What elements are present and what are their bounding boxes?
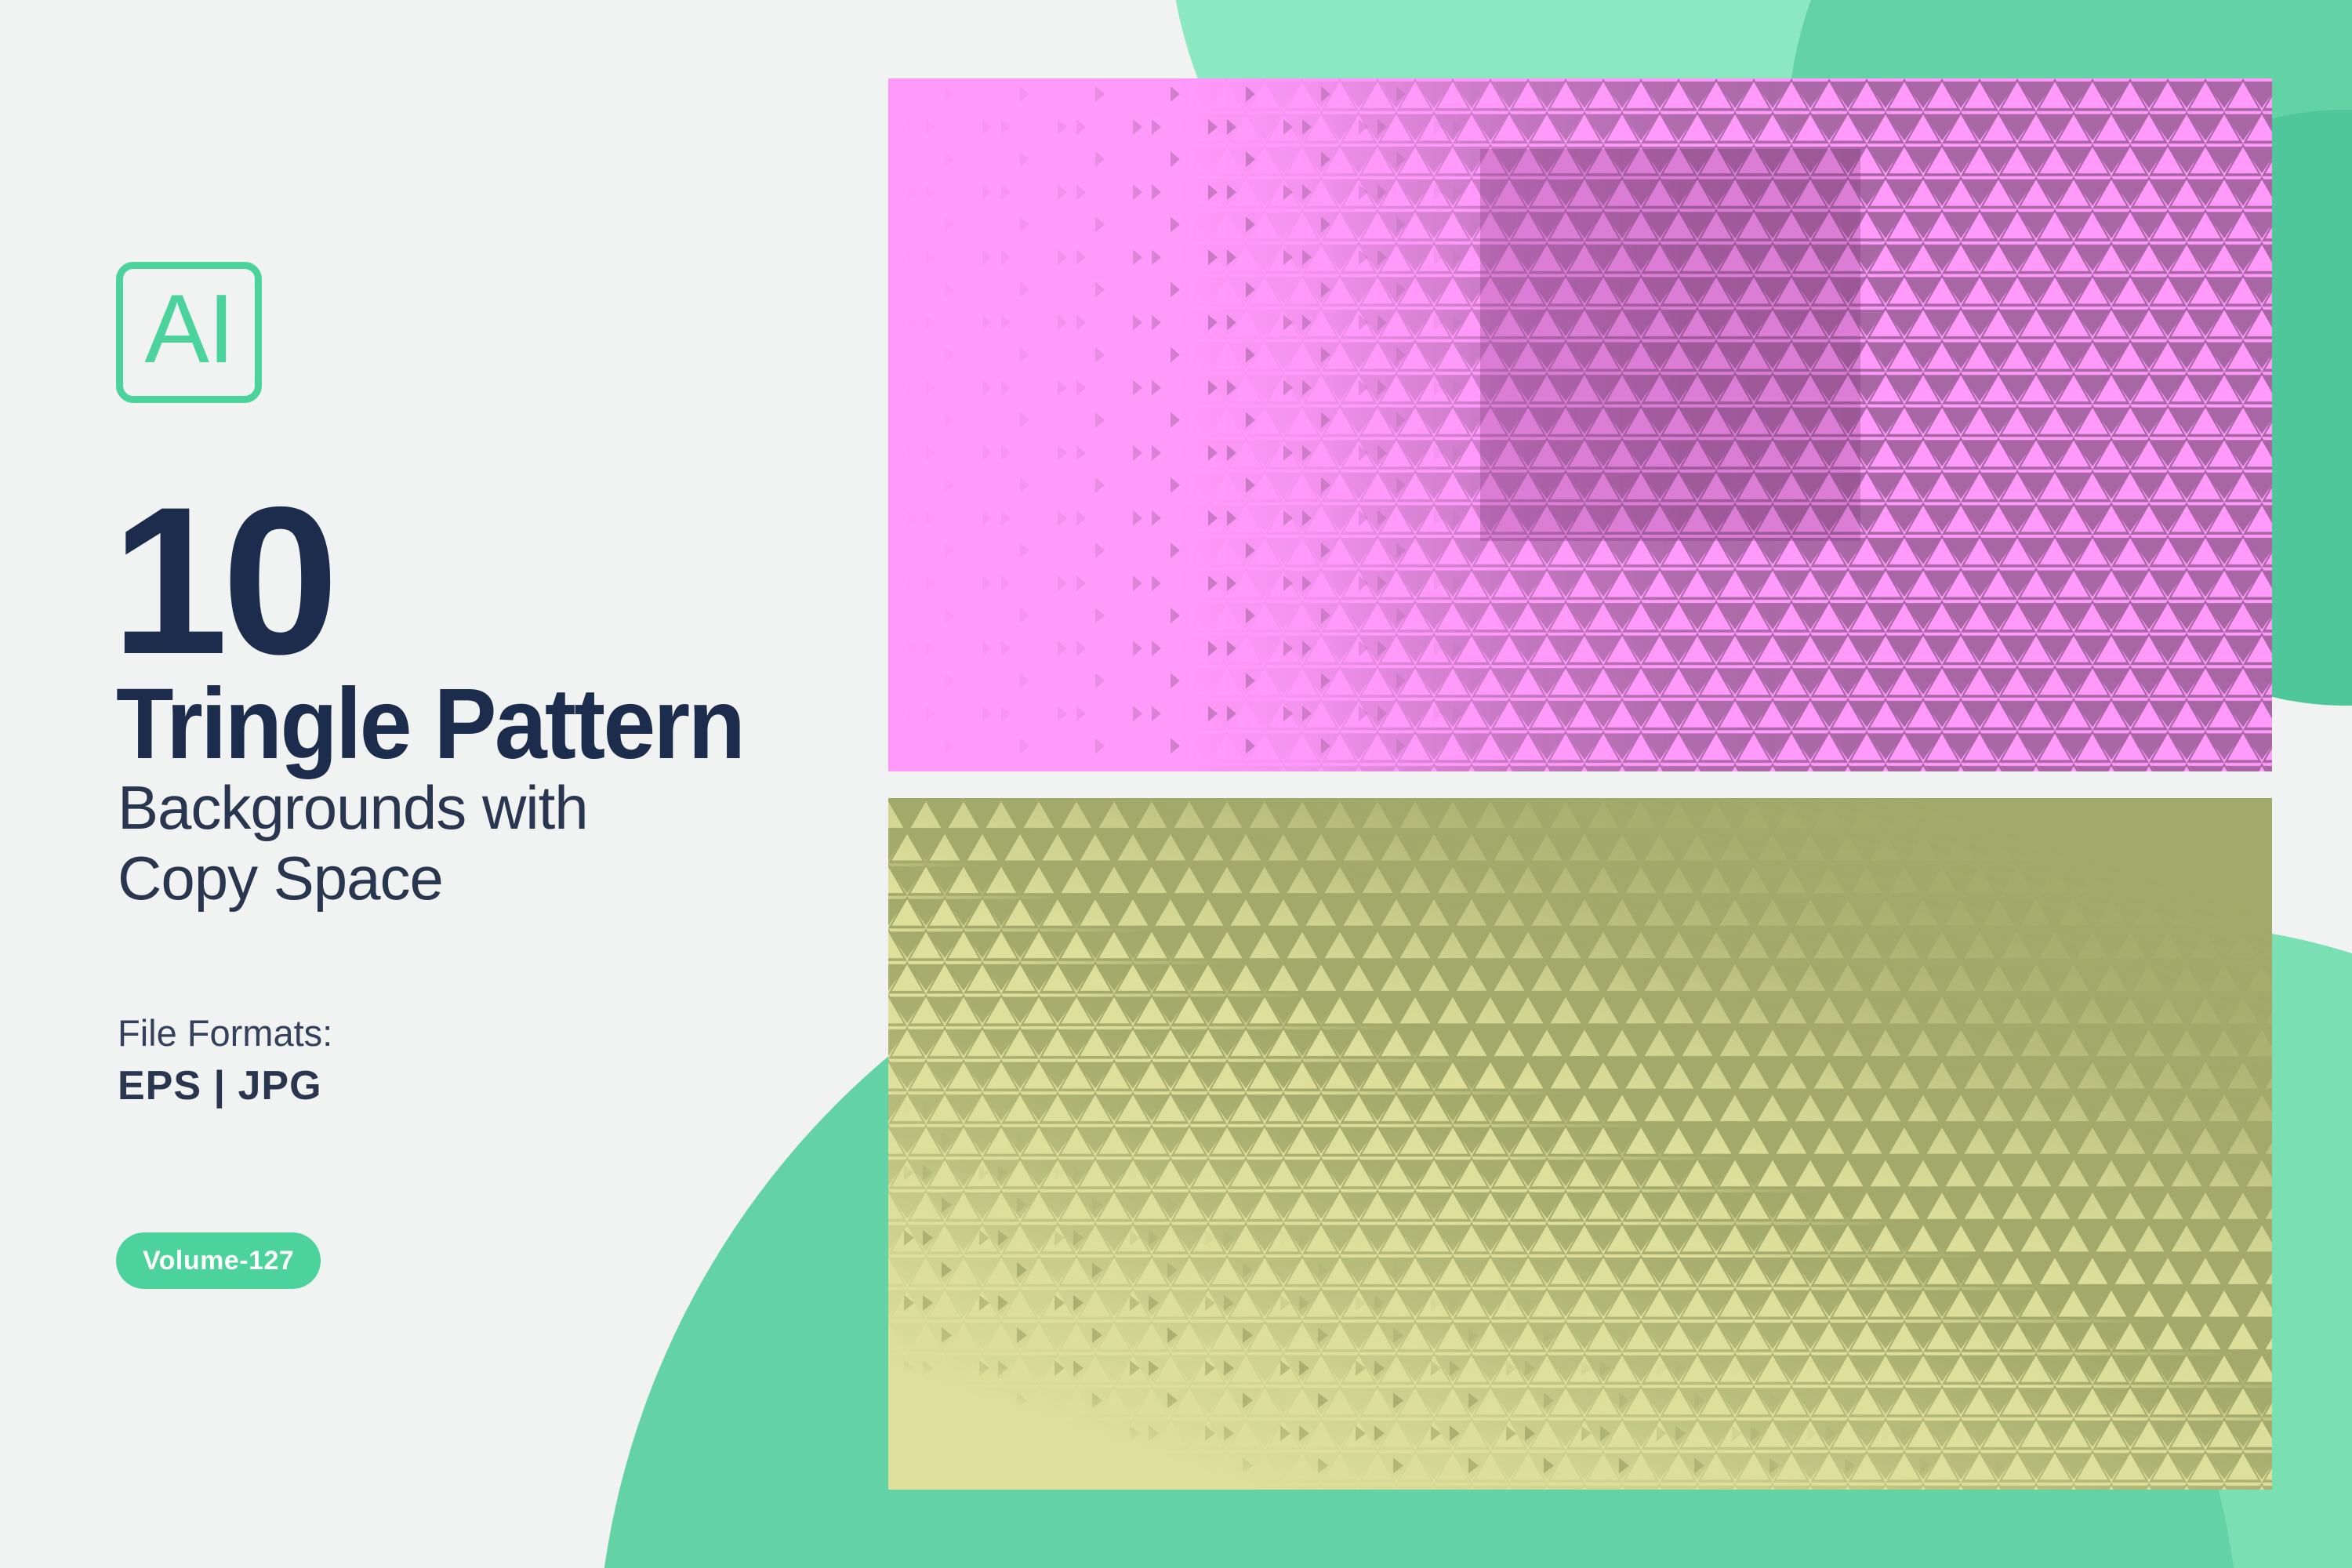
pink-triangle-pattern-preview (888, 78, 2272, 771)
olive-triangle-pattern-preview (888, 798, 2272, 1490)
pink-copy-space-overlay (1480, 149, 1860, 541)
page-title: Tringle Pattern (116, 674, 743, 775)
pack-count: 10 (111, 486, 332, 675)
ai-file-icon: AI (116, 262, 262, 403)
promo-canvas: AI 10 Tringle Pattern Backgrounds with C… (0, 0, 2352, 1568)
volume-badge: Volume-127 (116, 1232, 321, 1289)
olive-light-region (888, 798, 2272, 1490)
ai-file-icon-label: AI (144, 281, 233, 378)
olive-triangle-mesh (888, 798, 2272, 1490)
file-formats-value: EPS | JPG (118, 1062, 322, 1109)
page-subtitle: Backgrounds with Copy Space (118, 772, 588, 914)
file-formats-label: File Formats: (118, 1011, 332, 1054)
page-subtitle-line-1: Backgrounds with (118, 772, 588, 843)
info-column: AI 10 Tringle Pattern Backgrounds with C… (116, 0, 853, 1568)
volume-badge-label: Volume-127 (143, 1246, 294, 1276)
page-subtitle-line-2: Copy Space (118, 843, 588, 913)
pink-triangle-mesh (888, 78, 2272, 771)
